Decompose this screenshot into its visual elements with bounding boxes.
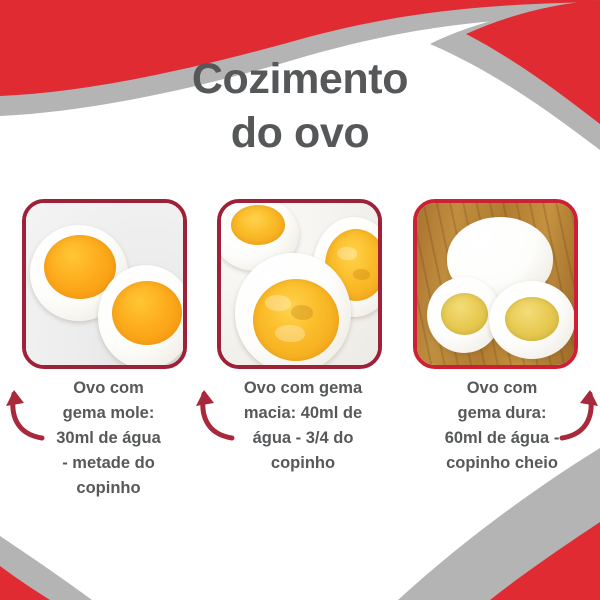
hard-boiled-egg-halves-photo	[413, 199, 578, 369]
bottom-left-red-wave	[0, 566, 50, 600]
page-title: Cozimento do ovo	[0, 52, 600, 160]
yolk-crumb	[353, 269, 370, 280]
photo-row	[0, 199, 600, 371]
yolk-firm-right	[505, 297, 559, 341]
photo-3-scene	[417, 203, 574, 365]
medium-boiled-egg-halves-photo	[217, 199, 382, 369]
yolk-crumb	[337, 247, 357, 260]
caption-line: copinho cheio	[417, 451, 587, 476]
yolk-crumb	[275, 325, 305, 342]
yolk-firm-left	[441, 293, 488, 335]
title-line-2: do ovo	[0, 106, 600, 160]
photo-2-scene	[221, 203, 378, 365]
caption-line: copinho	[214, 451, 392, 476]
yolk-runny-front	[112, 281, 182, 345]
egg-cooking-infographic: Cozimento do ovo	[0, 0, 600, 600]
curved-arrow-up-right-step-1	[2, 372, 52, 442]
yolk-crumb	[291, 305, 313, 320]
yolk-soft-top-left	[231, 205, 285, 245]
soft-boiled-egg-halves-photo	[22, 199, 187, 369]
caption-line: - metade do	[26, 451, 191, 476]
bottom-left-gray-wave	[0, 536, 92, 600]
photo-1-scene	[26, 203, 183, 365]
yolk-crumb	[265, 295, 291, 311]
bottom-right-red-wedge	[490, 522, 600, 600]
curved-arrow-up-left-step-3	[552, 370, 600, 442]
title-line-1: Cozimento	[0, 52, 600, 106]
caption-line: copinho	[26, 476, 191, 501]
curved-arrow-up-right-step-2	[192, 372, 242, 442]
yolk-soft-front	[253, 279, 339, 361]
